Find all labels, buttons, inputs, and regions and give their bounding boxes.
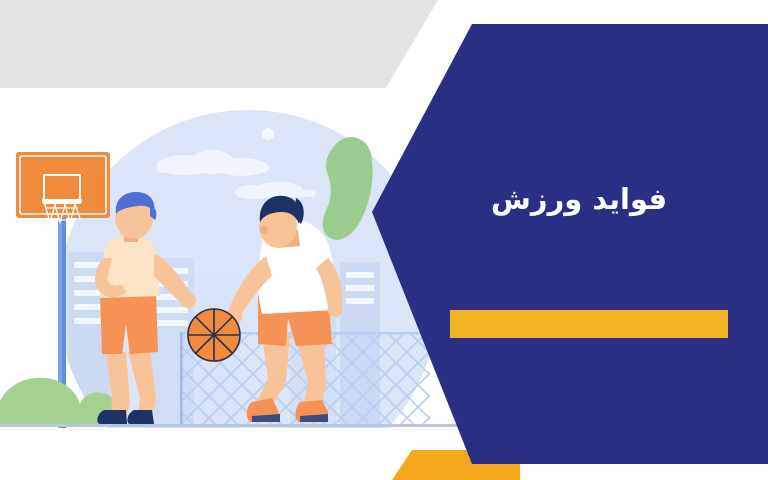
blue-chevron-panel — [372, 24, 768, 464]
shapes-layer — [0, 0, 768, 480]
slide-canvas: فواید ورزش — [0, 0, 768, 480]
yellow-accent-bar[interactable] — [450, 310, 728, 338]
gray-header-band — [0, 0, 438, 88]
